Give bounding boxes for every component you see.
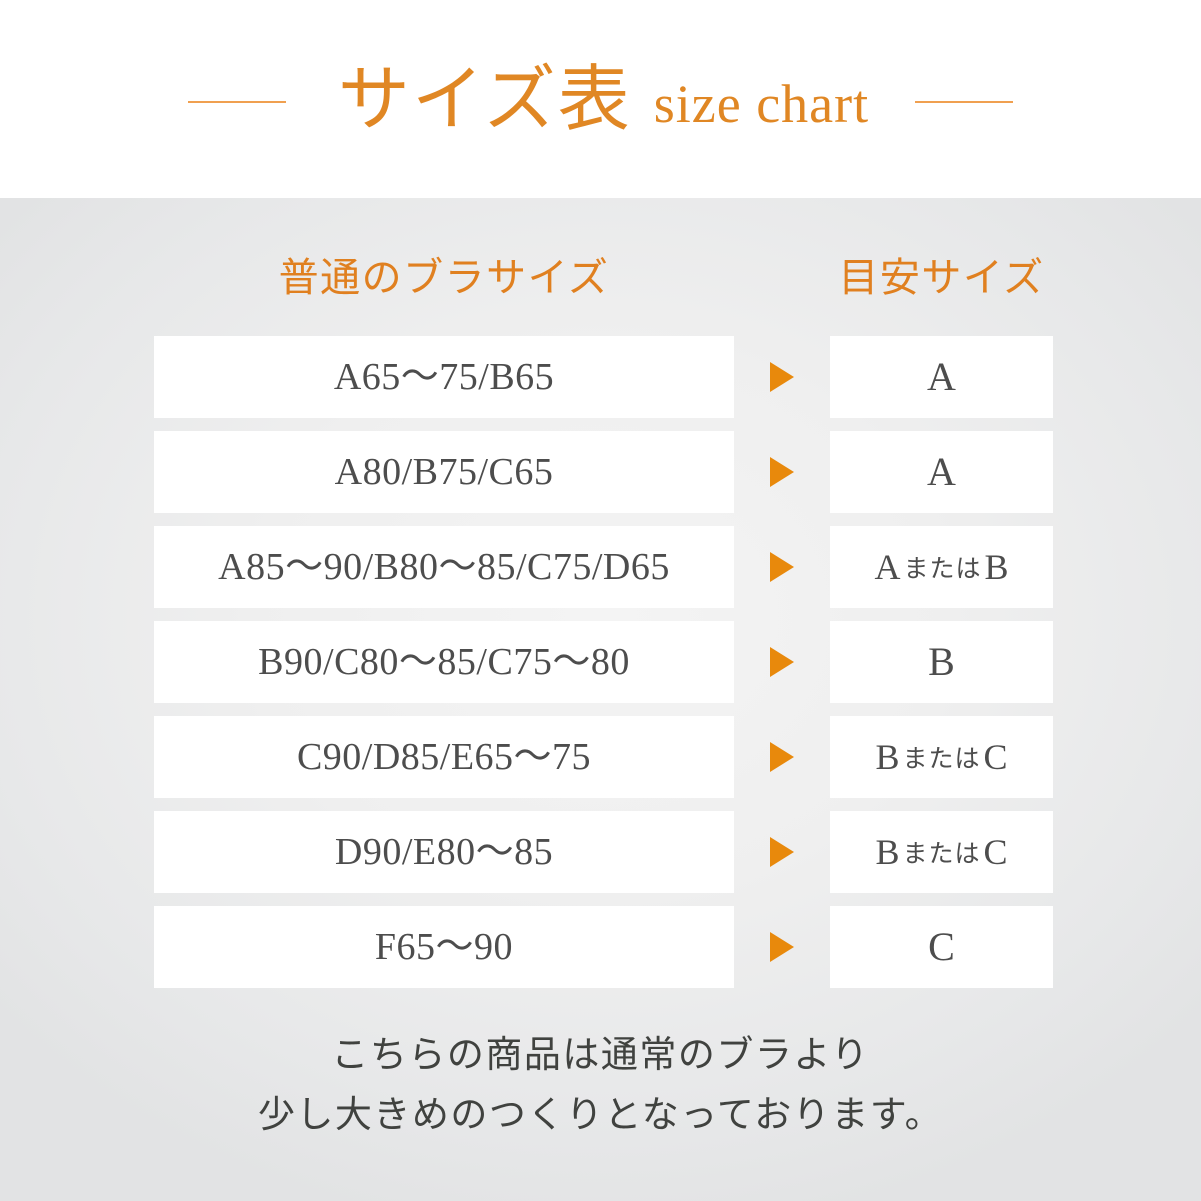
arrow-right-icon bbox=[770, 457, 794, 487]
arrow-cell bbox=[734, 431, 830, 513]
cell-guide-size: AまたはB bbox=[830, 526, 1053, 608]
title-dash-right-icon bbox=[915, 101, 1013, 103]
footer-note-line-2: 少し大きめのつくりとなっております。 bbox=[0, 1086, 1201, 1146]
arrow-right-icon bbox=[770, 837, 794, 867]
cell-normal-bra-size: A80/B75/C65 bbox=[154, 431, 734, 513]
arrow-right-icon bbox=[770, 932, 794, 962]
arrow-cell bbox=[734, 716, 830, 798]
cell-normal-bra-size: C90/D85/E65〜75 bbox=[154, 716, 734, 798]
guide-size-part-main: B bbox=[875, 832, 899, 872]
title-dash-left-icon bbox=[188, 101, 286, 103]
table-row: C90/D85/E65〜75 BまたはC bbox=[154, 716, 1053, 798]
table-row: A65〜75/B65 A bbox=[154, 336, 1053, 418]
cell-guide-size: BまたはC bbox=[830, 716, 1053, 798]
normal-bra-size-text: A85〜90/B80〜85/C75/D65 bbox=[218, 548, 670, 586]
table-row: D90/E80〜85 BまたはC bbox=[154, 811, 1053, 893]
guide-size-text: BまたはC bbox=[875, 739, 1007, 775]
arrow-cell bbox=[734, 811, 830, 893]
table-row: A85〜90/B80〜85/C75/D65 AまたはB bbox=[154, 526, 1053, 608]
cell-normal-bra-size: F65〜90 bbox=[154, 906, 734, 988]
guide-size-text: A bbox=[927, 357, 956, 397]
column-header-normal-bra-size: 普通のブラサイズ bbox=[154, 250, 734, 306]
column-header-guide-size: 目安サイズ bbox=[830, 250, 1053, 306]
cell-normal-bra-size: B90/C80〜85/C75〜80 bbox=[154, 621, 734, 703]
normal-bra-size-text: F65〜90 bbox=[375, 928, 513, 966]
arrow-right-icon bbox=[770, 552, 794, 582]
arrow-right-icon bbox=[770, 362, 794, 392]
guide-size-text: A bbox=[927, 452, 956, 492]
guide-size-part-conjunction: または bbox=[900, 556, 984, 583]
cell-guide-size: A bbox=[830, 336, 1053, 418]
guide-size-part-conjunction: または bbox=[899, 841, 983, 868]
guide-size-part-alt: C bbox=[984, 832, 1008, 872]
guide-size-part-conjunction: または bbox=[899, 746, 983, 773]
guide-size-part-alt: B bbox=[985, 547, 1009, 587]
arrow-cell bbox=[734, 621, 830, 703]
normal-bra-size-text: A65〜75/B65 bbox=[334, 358, 554, 396]
header-band: サイズ表 size chart bbox=[0, 0, 1201, 198]
cell-guide-size: C bbox=[830, 906, 1053, 988]
arrow-cell bbox=[734, 906, 830, 988]
guide-size-part-main: A bbox=[874, 547, 900, 587]
size-chart-page: サイズ表 size chart 普通のブラサイズ 目安サイズ A65〜75/B6… bbox=[0, 0, 1201, 1201]
normal-bra-size-text: D90/E80〜85 bbox=[335, 833, 553, 871]
footer-note-line-1: こちらの商品は通常のブラより bbox=[0, 1026, 1201, 1086]
arrow-right-icon bbox=[770, 742, 794, 772]
guide-size-text: B bbox=[928, 642, 955, 682]
cell-guide-size: A bbox=[830, 431, 1053, 513]
arrow-cell bbox=[734, 526, 830, 608]
table-row: F65〜90 C bbox=[154, 906, 1053, 988]
footer-note: こちらの商品は通常のブラより 少し大きめのつくりとなっております。 bbox=[0, 1026, 1201, 1146]
cell-guide-size: BまたはC bbox=[830, 811, 1053, 893]
column-header-row: 普通のブラサイズ 目安サイズ bbox=[0, 250, 1201, 306]
guide-size-text: AまたはB bbox=[874, 549, 1008, 585]
guide-size-part-main: B bbox=[875, 737, 899, 777]
guide-size-text: C bbox=[928, 927, 955, 967]
arrow-cell bbox=[734, 336, 830, 418]
guide-size-text: BまたはC bbox=[875, 834, 1007, 870]
normal-bra-size-text: A80/B75/C65 bbox=[335, 453, 554, 491]
title-row: サイズ表 size chart bbox=[0, 52, 1201, 152]
table-row: B90/C80〜85/C75〜80 B bbox=[154, 621, 1053, 703]
guide-size-part-alt: C bbox=[984, 737, 1008, 777]
cell-normal-bra-size: A65〜75/B65 bbox=[154, 336, 734, 418]
size-chart-table: A65〜75/B65 A A80/B75/C65 A A85〜90/B80〜85… bbox=[154, 336, 1053, 988]
cell-normal-bra-size: D90/E80〜85 bbox=[154, 811, 734, 893]
page-title-en: size chart bbox=[654, 77, 869, 131]
page-title-jp: サイズ表 bbox=[338, 64, 632, 136]
cell-normal-bra-size: A85〜90/B80〜85/C75/D65 bbox=[154, 526, 734, 608]
cell-guide-size: B bbox=[830, 621, 1053, 703]
normal-bra-size-text: C90/D85/E65〜75 bbox=[297, 738, 591, 776]
normal-bra-size-text: B90/C80〜85/C75〜80 bbox=[258, 643, 630, 681]
arrow-right-icon bbox=[770, 647, 794, 677]
table-row: A80/B75/C65 A bbox=[154, 431, 1053, 513]
